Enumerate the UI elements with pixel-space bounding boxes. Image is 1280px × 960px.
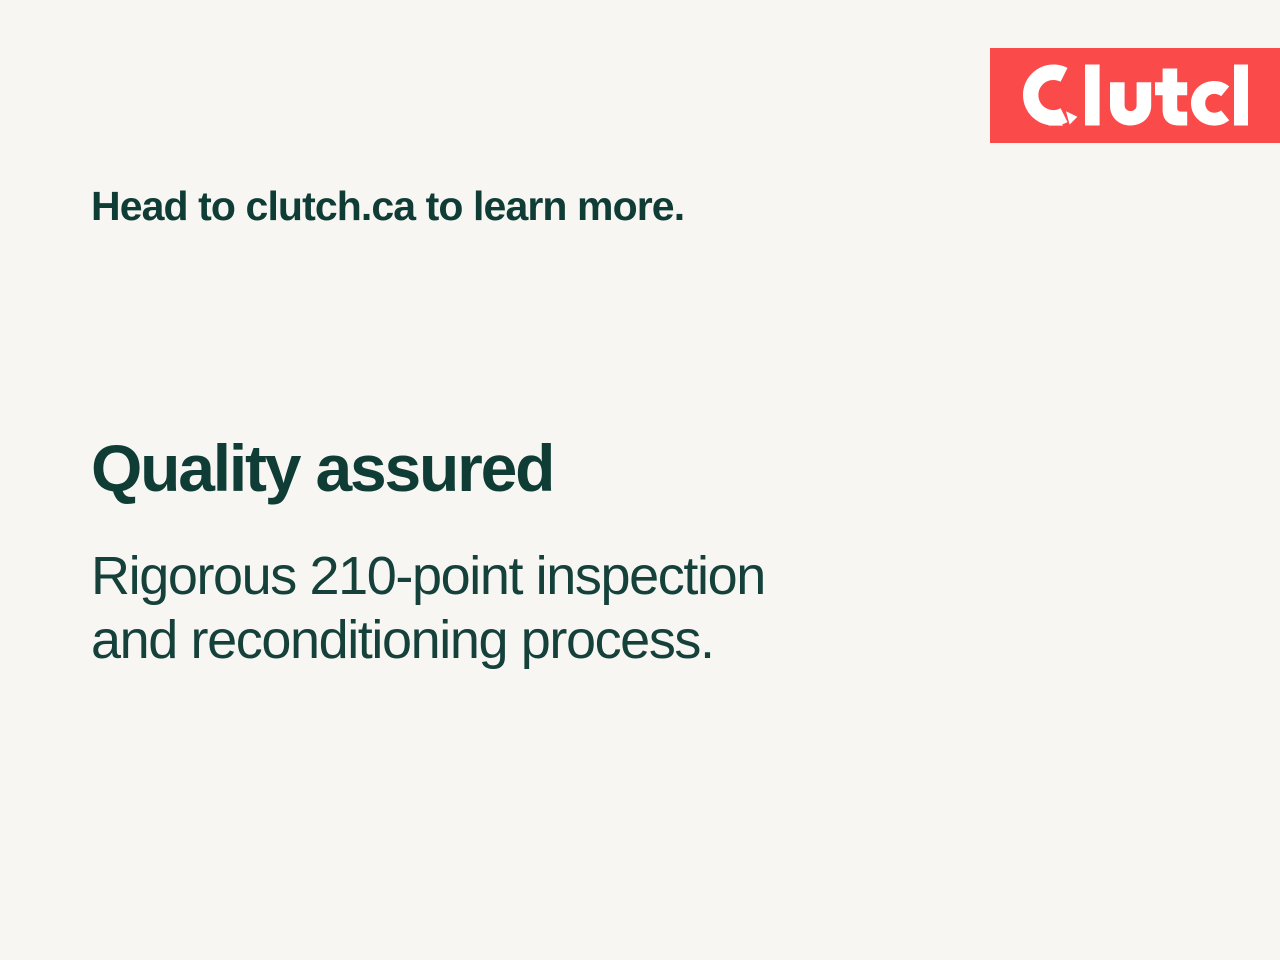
kicker-text: Head to clutch.ca to learn more. xyxy=(91,182,684,230)
clutch-wordmark-icon xyxy=(1022,64,1248,126)
page-title: Quality assured xyxy=(91,434,553,504)
slide-canvas: clutch Head to clutch.ca to learn more. … xyxy=(0,0,1280,960)
subheadline-line-2: and reconditioning process. xyxy=(91,608,765,672)
clutch-logo-badge[interactable]: clutch xyxy=(990,48,1280,143)
subheadline: Rigorous 210-point inspection and recond… xyxy=(91,544,765,672)
subheadline-line-1: Rigorous 210-point inspection xyxy=(91,544,765,608)
